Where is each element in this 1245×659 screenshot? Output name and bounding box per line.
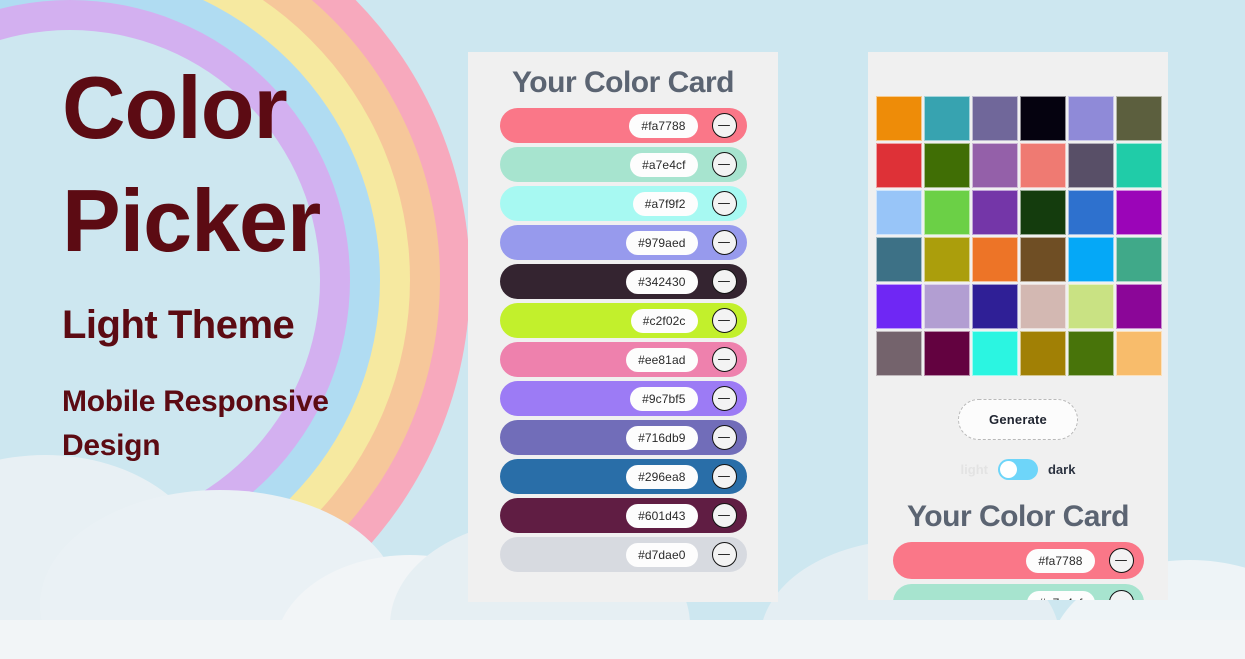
minus-glyph	[718, 320, 730, 322]
palette-swatch-cell[interactable]	[1116, 331, 1162, 376]
cloud-base-strip	[0, 620, 1245, 659]
minus-icon[interactable]	[1109, 590, 1134, 600]
minus-glyph	[1115, 560, 1127, 562]
palette-swatch-cell[interactable]	[876, 143, 922, 188]
minus-icon[interactable]	[712, 347, 737, 372]
minus-glyph	[718, 359, 730, 361]
palette-swatch-cell[interactable]	[1116, 190, 1162, 235]
palette-swatch-cell[interactable]	[1068, 190, 1114, 235]
page-title: Your Color Card	[468, 66, 778, 100]
color-swatch-row[interactable]: #979aed	[500, 225, 747, 260]
minus-glyph	[718, 203, 730, 205]
palette-swatch-cell[interactable]	[876, 284, 922, 329]
palette-swatch-cell[interactable]	[972, 190, 1018, 235]
palette-swatch-cell[interactable]	[1116, 143, 1162, 188]
palette-panel: Generate light dark Your Color Card #fa7…	[868, 52, 1168, 600]
theme-label-light: light	[961, 462, 988, 477]
palette-swatch-cell[interactable]	[1116, 237, 1162, 282]
minus-icon[interactable]	[712, 113, 737, 138]
palette-swatch-cell[interactable]	[1068, 237, 1114, 282]
hex-value-label: #d7dae0	[626, 543, 697, 567]
palette-grid	[876, 96, 1160, 376]
hex-value-label: #fa7788	[1026, 549, 1094, 573]
palette-swatch-cell[interactable]	[1068, 143, 1114, 188]
minus-icon[interactable]	[712, 308, 737, 333]
hex-value-label: #a7f9f2	[633, 192, 698, 216]
color-swatch-row[interactable]: #d7dae0	[500, 537, 747, 572]
minus-icon[interactable]	[712, 191, 737, 216]
minus-glyph	[718, 398, 730, 400]
hero-title-line-2: Picker	[62, 165, 482, 278]
generate-button-row: Generate	[868, 399, 1168, 440]
color-swatch-row[interactable]: #9c7bf5	[500, 381, 747, 416]
hex-value-label: #296ea8	[626, 465, 697, 489]
toggle-knob	[1000, 461, 1017, 478]
color-swatch-row[interactable]: #a7e4cf	[500, 147, 747, 182]
minus-icon[interactable]	[712, 386, 737, 411]
color-swatch-row[interactable]: #ee81ad	[500, 342, 747, 377]
palette-swatch-cell[interactable]	[972, 284, 1018, 329]
minus-glyph	[718, 281, 730, 283]
generate-button[interactable]: Generate	[958, 399, 1078, 440]
app-screenshot: Color Picker Light Theme Mobile Responsi…	[0, 0, 1245, 659]
color-swatch-row[interactable]: #c2f02c	[500, 303, 747, 338]
minus-glyph	[718, 437, 730, 439]
minus-icon[interactable]	[712, 503, 737, 528]
palette-card-title: Your Color Card	[868, 500, 1168, 534]
color-swatch-row[interactable]: #a7f9f2	[500, 186, 747, 221]
minus-icon[interactable]	[712, 542, 737, 567]
palette-swatch-cell[interactable]	[876, 96, 922, 141]
palette-swatch-cell[interactable]	[1068, 331, 1114, 376]
palette-swatch-cell[interactable]	[876, 190, 922, 235]
minus-glyph	[718, 515, 730, 517]
palette-swatch-cell[interactable]	[924, 143, 970, 188]
hex-value-label: #a7e4cf	[1027, 591, 1094, 601]
color-swatch-list: #fa7788#a7e4cf#a7f9f2#979aed#342430#c2f0…	[468, 108, 778, 572]
minus-icon[interactable]	[712, 230, 737, 255]
minus-glyph	[718, 164, 730, 166]
hero-title-line-1: Color	[62, 52, 482, 165]
palette-swatch-cell[interactable]	[972, 143, 1018, 188]
hex-value-label: #9c7bf5	[630, 387, 697, 411]
palette-swatch-cell[interactable]	[972, 331, 1018, 376]
color-swatch-row[interactable]: #a7e4cf	[893, 584, 1144, 600]
color-swatch-row[interactable]: #342430	[500, 264, 747, 299]
hero-tagline-line-1: Mobile Responsive	[62, 380, 482, 424]
theme-toggle-row: light dark	[868, 459, 1168, 480]
palette-swatch-cell[interactable]	[1068, 96, 1114, 141]
palette-swatch-cell[interactable]	[876, 237, 922, 282]
palette-swatch-cell[interactable]	[924, 331, 970, 376]
palette-swatch-cell[interactable]	[972, 96, 1018, 141]
minus-glyph	[718, 476, 730, 478]
palette-swatch-cell[interactable]	[1020, 143, 1066, 188]
color-card-panel-light: Your Color Card #fa7788#a7e4cf#a7f9f2#97…	[468, 52, 778, 602]
palette-swatch-cell[interactable]	[1116, 284, 1162, 329]
hex-value-label: #601d43	[626, 504, 697, 528]
color-swatch-row[interactable]: #fa7788	[500, 108, 747, 143]
palette-swatch-cell[interactable]	[972, 237, 1018, 282]
palette-swatch-cell[interactable]	[1020, 237, 1066, 282]
color-swatch-row[interactable]: #fa7788	[893, 542, 1144, 579]
hero-tagline-line-2: Design	[62, 424, 482, 468]
palette-swatch-cell[interactable]	[924, 237, 970, 282]
hex-value-label: #979aed	[626, 231, 697, 255]
palette-swatch-cell[interactable]	[876, 331, 922, 376]
color-swatch-row[interactable]: #296ea8	[500, 459, 747, 494]
palette-swatch-cell[interactable]	[1020, 284, 1066, 329]
minus-icon[interactable]	[712, 269, 737, 294]
hex-value-label: #ee81ad	[626, 348, 697, 372]
palette-swatch-cell[interactable]	[924, 96, 970, 141]
hex-value-label: #716db9	[626, 426, 697, 450]
minus-glyph	[718, 554, 730, 556]
palette-swatch-cell[interactable]	[1020, 190, 1066, 235]
minus-glyph	[718, 242, 730, 244]
hex-value-label: #fa7788	[629, 114, 697, 138]
palette-swatch-cell[interactable]	[1116, 96, 1162, 141]
minus-icon[interactable]	[712, 152, 737, 177]
hex-value-label: #a7e4cf	[630, 153, 697, 177]
minus-icon[interactable]	[1109, 548, 1134, 573]
hex-value-label: #342430	[626, 270, 697, 294]
color-swatch-row[interactable]: #716db9	[500, 420, 747, 455]
theme-toggle-switch[interactable]	[998, 459, 1038, 480]
palette-swatch-cell[interactable]	[1020, 331, 1066, 376]
color-swatch-row[interactable]: #601d43	[500, 498, 747, 533]
palette-swatch-cell[interactable]	[924, 190, 970, 235]
hero-text-block: Color Picker Light Theme Mobile Responsi…	[62, 52, 482, 467]
theme-label-dark: dark	[1048, 462, 1075, 477]
palette-swatch-cell[interactable]	[1068, 284, 1114, 329]
minus-glyph	[718, 125, 730, 127]
palette-color-swatch-list: #fa7788#a7e4cf	[868, 542, 1168, 600]
hex-value-label: #c2f02c	[631, 309, 698, 333]
minus-icon[interactable]	[712, 464, 737, 489]
hero-subtitle: Light Theme	[62, 303, 482, 348]
palette-swatch-cell[interactable]	[924, 284, 970, 329]
minus-icon[interactable]	[712, 425, 737, 450]
palette-swatch-cell[interactable]	[1020, 96, 1066, 141]
